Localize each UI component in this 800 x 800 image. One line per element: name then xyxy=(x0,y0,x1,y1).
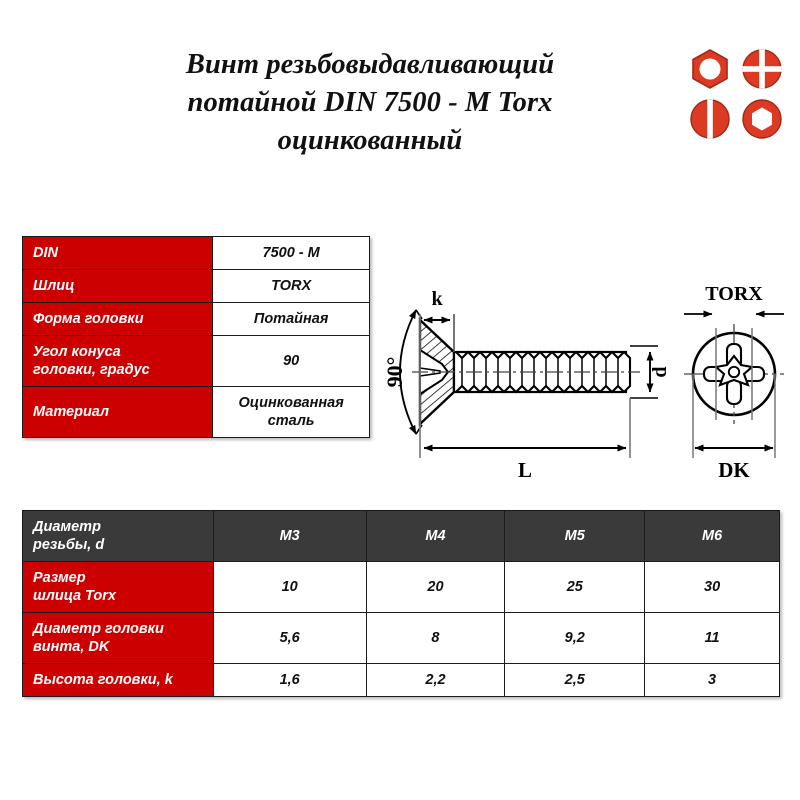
dim-cell-dk-m6: 11 xyxy=(645,613,780,664)
page-root: Винт резьбовыдавливающий потайной DIN 75… xyxy=(0,0,800,800)
dim-cell-k-m6: 3 xyxy=(645,664,780,697)
spec-value-head-form: Потайная xyxy=(213,303,370,336)
page-title-line-2: потайной DIN 7500 - M Torx xyxy=(60,84,680,122)
spec-key-head-form: Форма головки xyxy=(23,303,213,336)
spec-value-cone-angle: 90 xyxy=(213,336,370,387)
table-row: Угол конуса головки, градус 90 xyxy=(23,336,370,387)
spec-key-din: DIN xyxy=(23,237,213,270)
slotted-screw-icon xyxy=(691,100,729,139)
screw-head-top-view: TORX DK xyxy=(684,283,784,482)
table-row: Материал Оцинкованная сталь xyxy=(23,387,370,438)
thread-diameter-label: d xyxy=(649,366,671,377)
table-header-row: Диаметр резьбы, d M3 M4 M5 M6 xyxy=(23,511,780,562)
cross-slot-screw-icon xyxy=(743,50,782,89)
hex-nut-icon xyxy=(693,50,727,88)
technical-drawing: 90° k d L xyxy=(382,272,790,500)
torx-recess-label: TORX xyxy=(705,283,763,305)
spec-value-material: Оцинкованная сталь xyxy=(213,387,370,438)
head-diameter-label: DK xyxy=(718,458,750,482)
dim-header-label-line-1: Диаметр xyxy=(33,519,101,535)
hex-socket-screw-icon xyxy=(743,100,781,138)
dim-row-label-head-height: Высота головки, k xyxy=(23,664,214,697)
dim-header-col-m3: M3 xyxy=(213,511,366,562)
spec-key-cone-angle-line-2: головки, градус xyxy=(33,362,150,378)
dim-cell-torx-m6: 30 xyxy=(645,562,780,613)
dim-cell-k-m3: 1,6 xyxy=(213,664,366,697)
spec-key-material: Материал xyxy=(23,387,213,438)
dim-cell-k-m4: 2,2 xyxy=(366,664,505,697)
spec-key-cone-angle-line-1: Угол конуса xyxy=(33,344,121,360)
dim-row-label-torx-size-line-2: шлица Torx xyxy=(33,588,116,604)
table-row: Шлиц TORX xyxy=(23,270,370,303)
spec-value-din: 7500 - M xyxy=(213,237,370,270)
dim-cell-dk-m3: 5,6 xyxy=(213,613,366,664)
dim-header-label-line-2: резьбы, d xyxy=(33,537,104,553)
fastener-logo xyxy=(688,46,784,142)
countersunk-screw-side-view: 90° k d L xyxy=(382,288,671,482)
page-title-line-1: Винт резьбовыдавливающий xyxy=(60,46,680,84)
dim-cell-torx-m3: 10 xyxy=(213,562,366,613)
dim-header-col-m5: M5 xyxy=(505,511,645,562)
dim-row-label-head-diameter-line-2: винта, DK xyxy=(33,639,109,655)
specification-table: DIN 7500 - M Шлиц TORX Форма головки Пот… xyxy=(22,236,370,438)
head-height-label: k xyxy=(431,288,443,310)
dim-header-col-m4: M4 xyxy=(366,511,505,562)
dimension-table: Диаметр резьбы, d M3 M4 M5 M6 Размер шли… xyxy=(22,510,780,697)
spec-value-material-line-2: сталь xyxy=(268,413,315,429)
dim-cell-torx-m5: 25 xyxy=(505,562,645,613)
dim-row-label-torx-size: Размер шлица Torx xyxy=(23,562,214,613)
page-title-line-3: оцинкованный xyxy=(60,122,680,160)
table-row: Диаметр головки винта, DK 5,6 8 9,2 11 xyxy=(23,613,780,664)
dim-row-label-head-diameter-line-1: Диаметр головки xyxy=(33,621,164,637)
spec-key-shlits: Шлиц xyxy=(23,270,213,303)
table-row: DIN 7500 - M xyxy=(23,237,370,270)
dim-cell-dk-m4: 8 xyxy=(366,613,505,664)
cone-angle-label: 90° xyxy=(382,357,407,388)
dim-cell-dk-m5: 9,2 xyxy=(505,613,645,664)
table-row: Размер шлица Torx 10 20 25 30 xyxy=(23,562,780,613)
spec-key-cone-angle: Угол конуса головки, градус xyxy=(23,336,213,387)
spec-value-shlits: TORX xyxy=(213,270,370,303)
dim-row-label-head-diameter: Диаметр головки винта, DK xyxy=(23,613,214,664)
dim-header-label: Диаметр резьбы, d xyxy=(23,511,214,562)
table-row: Форма головки Потайная xyxy=(23,303,370,336)
dim-row-label-torx-size-line-1: Размер xyxy=(33,570,86,586)
spec-value-material-line-1: Оцинкованная xyxy=(239,395,344,411)
table-row: Высота головки, k 1,6 2,2 2,5 3 xyxy=(23,664,780,697)
dim-header-col-m6: M6 xyxy=(645,511,780,562)
page-title: Винт резьбовыдавливающий потайной DIN 75… xyxy=(60,46,680,160)
length-label: L xyxy=(518,458,532,482)
dim-cell-k-m5: 2,5 xyxy=(505,664,645,697)
dim-cell-torx-m4: 20 xyxy=(366,562,505,613)
